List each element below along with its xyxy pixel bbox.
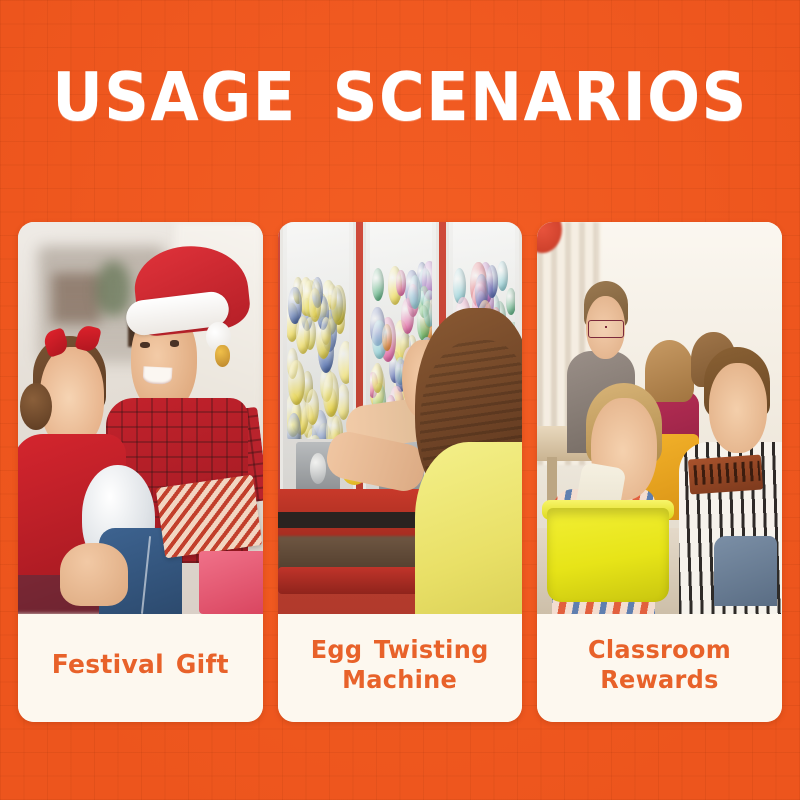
- father-smile: [142, 366, 172, 385]
- glasses-icon: [588, 320, 625, 338]
- caption-line-2: Rewards: [600, 665, 718, 694]
- plant-blur: [96, 261, 130, 316]
- scenario-image-festival-gift: [18, 222, 263, 614]
- boy-striped-shirt-face: [709, 363, 768, 453]
- yellow-bin: [547, 508, 669, 602]
- scenario-image-egg-twisting-machine: [278, 222, 523, 614]
- toy-capsule: [417, 305, 430, 341]
- toy-capsule: [486, 265, 498, 298]
- scenario-card-egg-twisting-machine[interactable]: Egg Twisting Machine: [278, 222, 523, 722]
- scenario-caption-classroom-rewards: Classroom Rewards: [537, 614, 782, 722]
- caption-line-1: Egg Twisting: [311, 635, 489, 664]
- toy-capsule: [306, 389, 319, 425]
- father-eye-left: [140, 342, 150, 348]
- toy-capsule: [372, 363, 383, 393]
- scenario-caption-egg-twisting-machine: Egg Twisting Machine: [278, 614, 523, 722]
- scenario-caption-festival-gift: Festival Gift: [18, 614, 263, 722]
- page-title-container: USAGE SCENARIOS: [0, 62, 800, 132]
- toy-capsule: [338, 341, 349, 384]
- page-title: USAGE SCENARIOS: [28, 62, 772, 132]
- girl-yellow-shirt: [415, 442, 523, 614]
- child-pink-shirt-hair: [645, 340, 694, 403]
- toy-capsule: [506, 288, 515, 314]
- scenario-card-classroom-rewards[interactable]: Classroom Rewards: [537, 222, 782, 722]
- caption-label-classroom-rewards: Classroom Rewards: [588, 635, 731, 695]
- father-eye-right: [170, 340, 180, 346]
- counter-shadow: [278, 512, 430, 528]
- scenario-card-festival-gift[interactable]: Festival Gift: [18, 222, 263, 722]
- toy-capsule: [372, 268, 384, 301]
- scenario-image-classroom-rewards: [537, 222, 782, 614]
- bell-icon: [215, 345, 230, 367]
- caption-label-egg-twisting-machine: Egg Twisting Machine: [311, 635, 489, 695]
- capsule-machine-1-globe: [287, 222, 349, 439]
- toy-capsule: [497, 261, 508, 291]
- poster-canvas: USAGE SCENARIOS: [0, 0, 800, 800]
- caption-line-2: Machine: [342, 665, 457, 694]
- father-hand: [60, 543, 129, 606]
- shelf-object: [52, 273, 101, 324]
- pink-present: [199, 551, 263, 614]
- girl-hair-bun: [20, 383, 52, 430]
- caption-line-1: Classroom: [588, 635, 731, 664]
- toy-capsule: [382, 324, 392, 351]
- toy-capsule: [331, 285, 346, 325]
- toy-capsule: [321, 317, 331, 345]
- boy-jeans: [714, 536, 778, 607]
- toy-capsule: [396, 270, 406, 296]
- caption-label-festival-gift: Festival Gift: [52, 650, 229, 680]
- toy-capsule: [296, 316, 310, 354]
- scenario-card-row: Festival Gift: [18, 222, 782, 722]
- gift-box: [155, 474, 262, 557]
- toy-capsule: [323, 372, 339, 417]
